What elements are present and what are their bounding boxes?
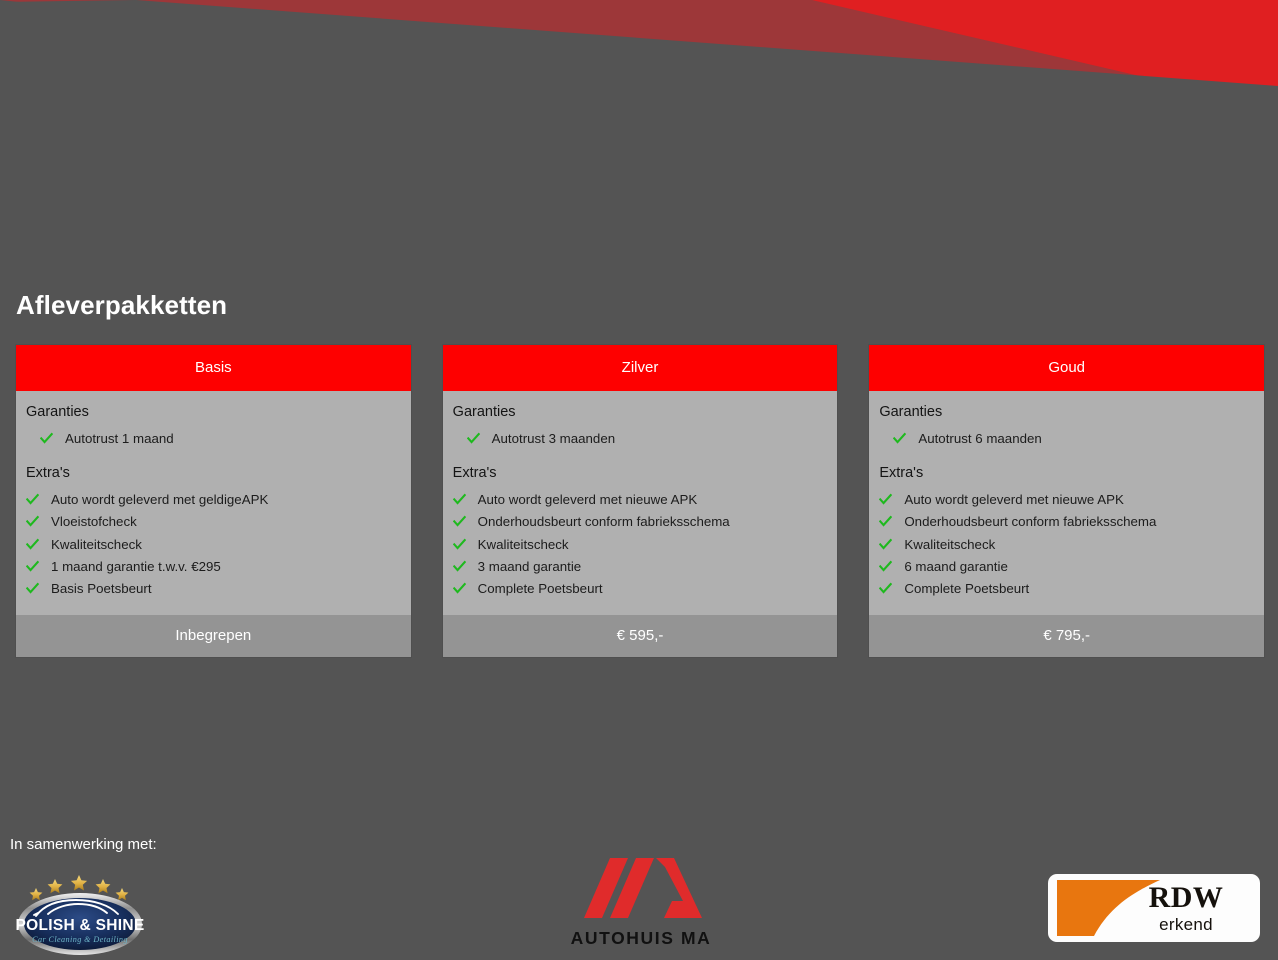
package-price: € 795,- [869, 615, 1264, 657]
garanties-heading: Garanties [26, 404, 399, 421]
top-diagonal-banner [0, 0, 1278, 140]
list-item: Onderhoudsbeurt conform fabrieksschema [453, 511, 826, 533]
check-icon [453, 538, 466, 551]
package-card-header: Goud [869, 345, 1264, 391]
rdw-subtitle: erkend [1159, 915, 1213, 934]
list-item-label: Kwaliteitscheck [904, 534, 995, 556]
check-icon [26, 493, 39, 506]
list-item-label: Onderhoudsbeurt conform fabrieksschema [904, 511, 1156, 533]
list-item-label: Kwaliteitscheck [478, 534, 569, 556]
package-card-header: Basis [16, 345, 411, 391]
extras-heading: Extra's [26, 465, 399, 482]
garanties-list: Autotrust 1 maand [26, 428, 399, 450]
list-item-label: Autotrust 6 maanden [918, 428, 1041, 450]
list-item: Complete Poetsbeurt [453, 578, 826, 600]
check-icon [453, 493, 466, 506]
extras-list: Auto wordt geleverd met nieuwe APK Onder… [453, 489, 826, 601]
package-card-body: Garanties Autotrust 3 maanden Extra's Au… [443, 391, 838, 615]
list-item-label: Autotrust 1 maand [65, 428, 174, 450]
list-item-label: Vloeistofcheck [51, 511, 137, 533]
check-icon [26, 515, 39, 528]
check-icon [453, 515, 466, 528]
list-item: Vloeistofcheck [26, 511, 399, 533]
list-item-label: 3 maand garantie [478, 556, 582, 578]
check-icon [879, 560, 892, 573]
autohuis-ma-logo: AUTOHUIS MA [560, 852, 722, 952]
list-item-label: Auto wordt geleverd met nieuwe APK [478, 489, 698, 511]
list-item: Autotrust 1 maand [26, 428, 399, 450]
banner-stripe-bright-red-top [760, 0, 1278, 108]
check-icon [453, 560, 466, 573]
check-icon [467, 432, 480, 445]
banner-stripe-bright-red [636, 0, 1278, 112]
list-item: Complete Poetsbeurt [879, 578, 1252, 600]
polish-shine-tagline: Car Cleaning & Detailing [32, 935, 128, 944]
package-price: Inbegrepen [16, 615, 411, 657]
list-item: Basis Poetsbeurt [26, 578, 399, 600]
list-item-label: 6 maand garantie [904, 556, 1008, 578]
list-item-label: Autotrust 3 maanden [492, 428, 615, 450]
list-item: 3 maand garantie [453, 556, 826, 578]
list-item: Auto wordt geleverd met geldigeAPK [26, 489, 399, 511]
list-item-label: Auto wordt geleverd met nieuwe APK [904, 489, 1124, 511]
package-card-header: Zilver [443, 345, 838, 391]
page-title: Afleverpakketten [16, 290, 227, 321]
banner-stripe-muted-red [0, 0, 1278, 133]
list-item-label: Complete Poetsbeurt [478, 578, 603, 600]
list-item: Autotrust 3 maanden [453, 428, 826, 450]
package-card-goud[interactable]: Goud Garanties Autotrust 6 maanden Extra… [869, 345, 1264, 657]
list-item: Kwaliteitscheck [26, 534, 399, 556]
list-item: Kwaliteitscheck [453, 534, 826, 556]
list-item-label: Onderhoudsbeurt conform fabrieksschema [478, 511, 730, 533]
list-item: Onderhoudsbeurt conform fabrieksschema [879, 511, 1252, 533]
check-icon [893, 432, 906, 445]
check-icon [40, 432, 53, 445]
list-item-label: 1 maand garantie t.w.v. €295 [51, 556, 221, 578]
partners-label: In samenwerking met: [10, 836, 157, 853]
package-cards-row: Basis Garanties Autotrust 1 maand Extra'… [16, 345, 1264, 657]
extras-heading: Extra's [453, 465, 826, 482]
garanties-list: Autotrust 6 maanden [879, 428, 1252, 450]
list-item-label: Auto wordt geleverd met geldigeAPK [51, 489, 268, 511]
package-card-basis[interactable]: Basis Garanties Autotrust 1 maand Extra'… [16, 345, 411, 657]
check-icon [26, 560, 39, 573]
list-item: Autotrust 6 maanden [879, 428, 1252, 450]
polish-shine-wordmark: POLISH & SHINE [15, 917, 144, 934]
check-icon [26, 582, 39, 595]
check-icon [879, 582, 892, 595]
rdw-erkend-logo: RDW erkend [1048, 874, 1260, 942]
garanties-heading: Garanties [879, 404, 1252, 421]
check-icon [879, 493, 892, 506]
autohuis-ma-wordmark: AUTOHUIS MA [571, 928, 712, 948]
rdw-title: RDW [1149, 881, 1224, 914]
check-icon [879, 538, 892, 551]
package-price: € 595,- [443, 615, 838, 657]
extras-list: Auto wordt geleverd met geldigeAPK Vloei… [26, 489, 399, 601]
package-card-body: Garanties Autotrust 1 maand Extra's Auto… [16, 391, 411, 615]
garanties-list: Autotrust 3 maanden [453, 428, 826, 450]
package-card-body: Garanties Autotrust 6 maanden Extra's Au… [869, 391, 1264, 615]
list-item-label: Basis Poetsbeurt [51, 578, 152, 600]
list-item-label: Complete Poetsbeurt [904, 578, 1029, 600]
list-item: Kwaliteitscheck [879, 534, 1252, 556]
package-card-zilver[interactable]: Zilver Garanties Autotrust 3 maanden Ext… [443, 345, 838, 657]
list-item: Auto wordt geleverd met nieuwe APK [879, 489, 1252, 511]
check-icon [26, 538, 39, 551]
autohuis-ma-monogram [584, 858, 702, 918]
polish-shine-logo: POLISH & SHINE Car Cleaning & Detailing [14, 862, 146, 958]
extras-heading: Extra's [879, 465, 1252, 482]
list-item: 6 maand garantie [879, 556, 1252, 578]
banner-stripe-muted-overlay [0, 0, 1278, 140]
list-item: Auto wordt geleverd met nieuwe APK [453, 489, 826, 511]
garanties-heading: Garanties [453, 404, 826, 421]
check-icon [453, 582, 466, 595]
extras-list: Auto wordt geleverd met nieuwe APK Onder… [879, 489, 1252, 601]
list-item: 1 maand garantie t.w.v. €295 [26, 556, 399, 578]
list-item-label: Kwaliteitscheck [51, 534, 142, 556]
check-icon [879, 515, 892, 528]
